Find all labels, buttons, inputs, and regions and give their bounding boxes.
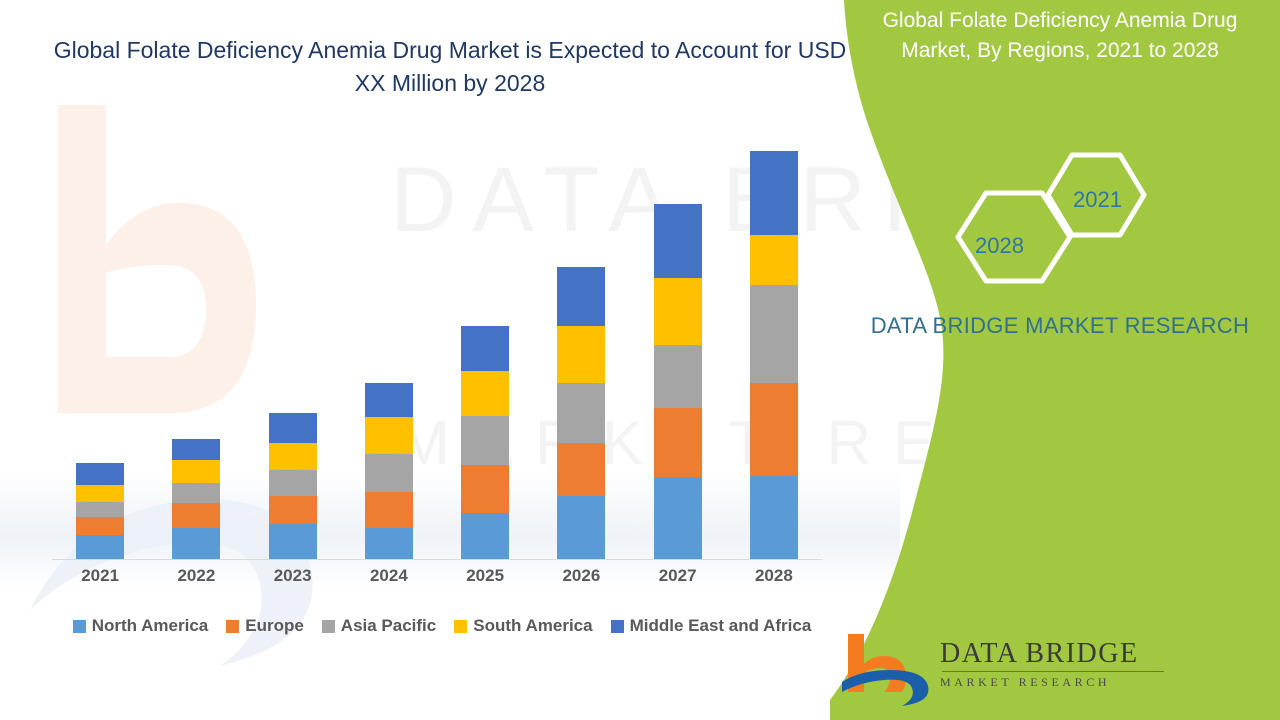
legend-label: South America — [473, 616, 592, 636]
company-logo: DATA BRIDGE MARKET RESEARCH — [840, 630, 1270, 710]
logo-wordmark: DATA BRIDGE MARKET RESEARCH — [940, 638, 1260, 690]
bar-segment — [654, 204, 702, 277]
bar-segment — [461, 326, 509, 371]
bar-column — [52, 121, 148, 559]
bar-segment — [750, 383, 798, 476]
hexagon-label-end-year: 2028 — [975, 233, 1024, 259]
chart-panel: DATA BRIDGE MARKET RESEARCH Global Folat… — [0, 0, 900, 720]
x-axis-labels: 20212022202320242025202620272028 — [52, 566, 822, 594]
bar-column — [533, 121, 629, 559]
chart-title: Global Folate Deficiency Anemia Drug Mar… — [50, 34, 850, 100]
bar-segment — [365, 454, 413, 492]
hexagons-icon — [940, 145, 1170, 290]
bar-stack — [269, 413, 317, 559]
x-axis-label: 2026 — [533, 566, 629, 594]
bar-segment — [76, 535, 124, 559]
bar-segment — [750, 151, 798, 235]
legend-swatch-icon — [611, 620, 624, 633]
bar-stack — [654, 204, 702, 559]
hexagon-label-start-year: 2021 — [1073, 187, 1122, 213]
bar-segment — [365, 528, 413, 559]
bar-segment — [557, 443, 605, 496]
logo-main-text: DATA BRIDGE — [940, 638, 1260, 670]
legend-label: Europe — [245, 616, 304, 636]
bar-column — [630, 121, 726, 559]
bar-segment — [76, 502, 124, 517]
bar-column — [437, 121, 533, 559]
bar-segment — [557, 267, 605, 326]
bar-segment — [654, 477, 702, 559]
bar-segment — [365, 492, 413, 528]
bar-segment — [557, 383, 605, 443]
bar-segment — [365, 417, 413, 454]
bar-stack — [557, 267, 605, 559]
bar-segment — [750, 476, 798, 559]
bar-segment — [750, 285, 798, 382]
bar-stack — [461, 326, 509, 559]
legend-item[interactable]: Europe — [226, 616, 304, 636]
chart-legend: North AmericaEuropeAsia PacificSouth Ame… — [52, 616, 832, 636]
bar-segment — [750, 235, 798, 285]
bar-segment — [269, 413, 317, 443]
x-axis-line — [52, 559, 822, 560]
bar-segment — [461, 513, 509, 559]
bar-segment — [76, 485, 124, 503]
bar-column — [148, 121, 244, 559]
bar-segment — [172, 528, 220, 559]
bar-segment — [76, 517, 124, 535]
x-axis-label: 2022 — [148, 566, 244, 594]
bar-segment — [654, 278, 702, 346]
legend-swatch-icon — [454, 620, 467, 633]
legend-swatch-icon — [322, 620, 335, 633]
x-axis-label: 2023 — [245, 566, 341, 594]
x-axis-label: 2025 — [437, 566, 533, 594]
bar-column — [341, 121, 437, 559]
legend-swatch-icon — [73, 620, 86, 633]
panel-title: Global Folate Deficiency Anemia Drug Mar… — [860, 6, 1260, 66]
data-bridge-logo-icon — [840, 630, 940, 708]
bar-segment — [654, 408, 702, 477]
bar-segment — [172, 460, 220, 483]
brand-name-text: DATA BRIDGE MARKET RESEARCH — [855, 310, 1265, 342]
bar-stack — [76, 463, 124, 559]
x-axis-label: 2027 — [630, 566, 726, 594]
legend-item[interactable]: North America — [73, 616, 209, 636]
bar-segment — [76, 463, 124, 485]
chart-bars — [52, 121, 822, 559]
legend-item[interactable]: Middle East and Africa — [611, 616, 812, 636]
bar-segment — [269, 443, 317, 470]
bar-column — [726, 121, 822, 559]
bar-segment — [172, 503, 220, 528]
bar-column — [245, 121, 341, 559]
bar-segment — [172, 483, 220, 503]
logo-sub-text: MARKET RESEARCH — [940, 675, 1260, 690]
x-axis-label: 2028 — [726, 566, 822, 594]
legend-swatch-icon — [226, 620, 239, 633]
x-axis-label: 2021 — [52, 566, 148, 594]
legend-label: Middle East and Africa — [630, 616, 812, 636]
bar-segment — [269, 470, 317, 495]
bar-stack — [750, 151, 798, 559]
legend-label: North America — [92, 616, 209, 636]
legend-item[interactable]: South America — [454, 616, 592, 636]
bar-segment — [269, 496, 317, 524]
bar-segment — [365, 383, 413, 417]
bar-segment — [269, 524, 317, 559]
bar-segment — [557, 326, 605, 383]
legend-item[interactable]: Asia Pacific — [322, 616, 436, 636]
bar-stack — [172, 439, 220, 559]
x-axis-label: 2024 — [341, 566, 437, 594]
legend-label: Asia Pacific — [341, 616, 436, 636]
bar-segment — [654, 345, 702, 407]
bar-segment — [172, 439, 220, 461]
logo-divider — [942, 671, 1164, 672]
infographic-page: DATA BRIDGE MARKET RESEARCH Global Folat… — [0, 0, 1280, 720]
bar-segment — [557, 496, 605, 560]
stacked-bar-chart — [52, 120, 822, 560]
bar-segment — [461, 416, 509, 465]
green-sidebar-content: Global Folate Deficiency Anemia Drug Mar… — [830, 0, 1280, 720]
hexagon-group: 2021 2028 — [940, 145, 1170, 290]
bar-segment — [461, 465, 509, 513]
bar-stack — [365, 383, 413, 559]
bar-segment — [461, 371, 509, 416]
